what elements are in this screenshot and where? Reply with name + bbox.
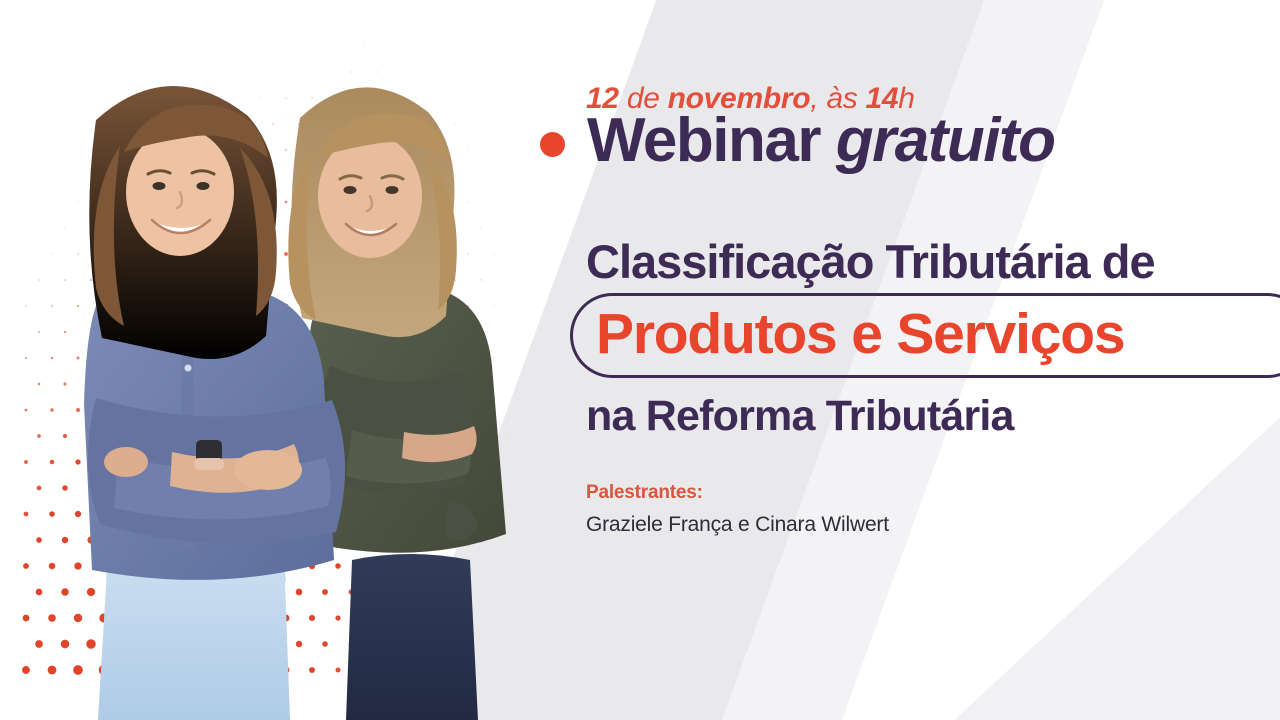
title-line-2: Produtos e Serviços — [596, 302, 1124, 368]
webinar-heading-row: Webinar gratuito — [540, 110, 1054, 172]
poster-content: 12 de novembro, às 14h Webinar gratuito … — [578, 0, 1280, 720]
title-line-3: na Reforma Tributária — [586, 392, 1014, 441]
bullet-dot-icon — [540, 132, 565, 157]
webinar-adjective: gratuito — [836, 106, 1055, 175]
title-line-1: Classificação Tributária de — [586, 234, 1155, 289]
webinar-poster: 12 de novembro, às 14h Webinar gratuito … — [0, 0, 1280, 720]
presenters-photo — [0, 0, 580, 720]
speakers-names: Graziele França e Cinara Wilwert — [586, 513, 889, 537]
webinar-word: Webinar — [587, 106, 820, 175]
webinar-heading: Webinar gratuito — [587, 110, 1054, 172]
speakers-label: Palestrantes: — [586, 482, 703, 504]
